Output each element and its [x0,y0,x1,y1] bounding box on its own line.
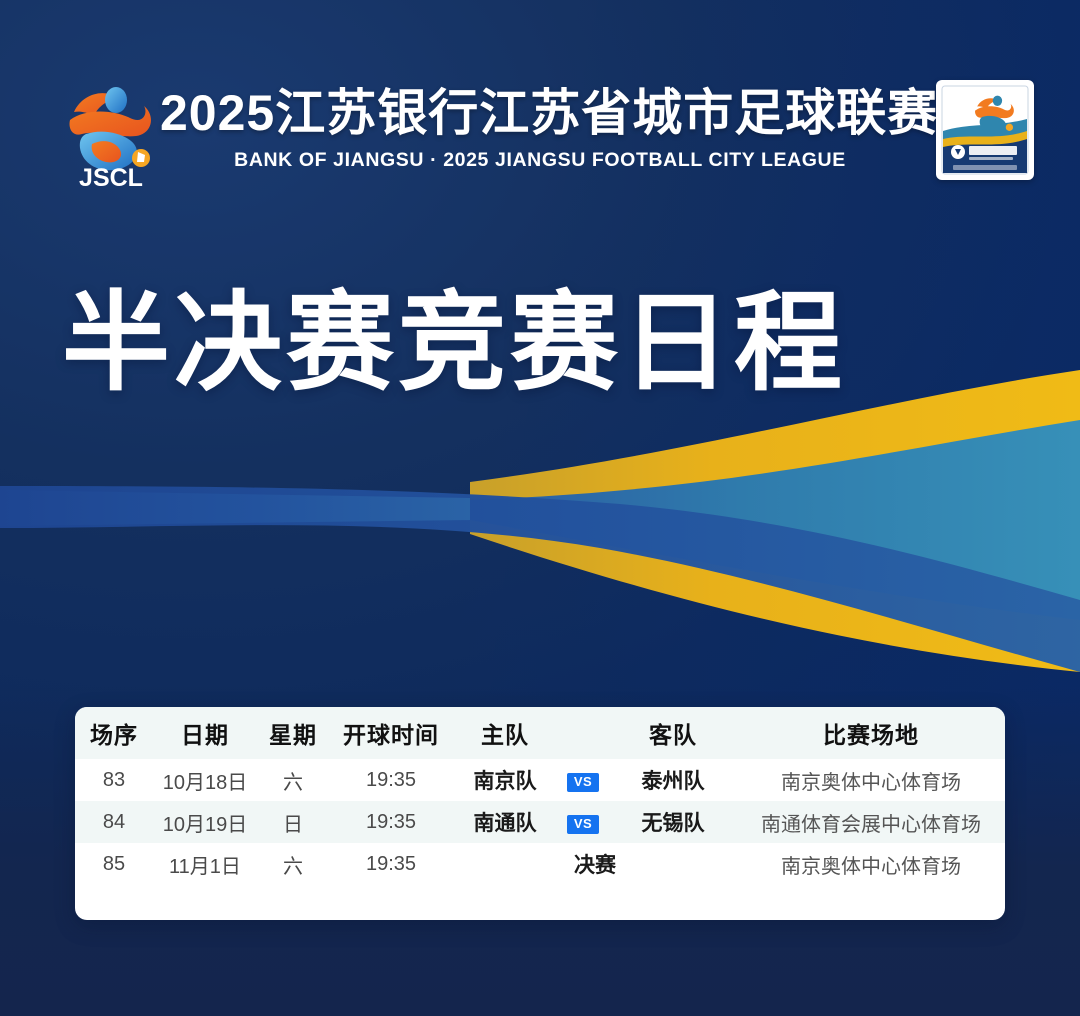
table-row: 83 10月18日 六 19:35 南京队 VS 泰州队 南京奥体中心体育场 [75,759,1005,801]
match-weekday: 六 [257,843,329,885]
match-kickoff: 19:35 [329,801,453,843]
schedule-card: 场序 日期 星期 开球时间 主队 客队 比赛场地 83 10月18日 六 19:… [75,707,1005,920]
logo-wordmark: JSCL [79,164,143,190]
page-title: 半决赛竞赛日程 [62,284,846,402]
col-header-num: 场序 [75,707,153,759]
col-header-home: 主队 [453,707,557,759]
match-number: 84 [75,801,153,843]
schedule-table: 场序 日期 星期 开球时间 主队 客队 比赛场地 83 10月18日 六 19:… [75,707,1005,885]
match-kickoff: 19:35 [329,759,453,801]
match-weekday: 日 [257,801,329,843]
table-row: 84 10月19日 日 19:35 南通队 VS 无锡队 南通体育会展中心体育场 [75,801,1005,843]
away-team: 无锡队 [609,801,737,843]
table-row: 85 11月1日 六 19:35 决赛 南京奥体中心体育场 [75,843,1005,885]
schedule-table-body: 83 10月18日 六 19:35 南京队 VS 泰州队 南京奥体中心体育场 8… [75,759,1005,885]
table-header-row: 场序 日期 星期 开球时间 主队 客队 比赛场地 [75,707,1005,759]
col-header-kickoff: 开球时间 [329,707,453,759]
match-number: 85 [75,843,153,885]
league-title-en: BANK OF JIANGSU · 2025 JIANGSU FOOTBALL … [160,148,920,172]
match-venue: 南京奥体中心体育场 [737,759,1005,801]
schedule-table-head: 场序 日期 星期 开球时间 主队 客队 比赛场地 [75,707,1005,759]
match-kickoff: 19:35 [329,843,453,885]
col-header-vs-spacer [557,707,609,759]
match-date: 10月18日 [153,759,257,801]
col-header-away: 客队 [609,707,737,759]
poster-header: JSCL 2025江苏银行江苏省城市足球联赛 BANK OF JIANGSU ·… [0,0,1080,210]
match-venue: 南通体育会展中心体育场 [737,801,1005,843]
home-team: 南京队 [453,759,557,801]
league-title-cn: 2025江苏银行江苏省城市足球联赛 [160,84,920,142]
match-date: 10月19日 [153,801,257,843]
col-header-venue: 比赛场地 [737,707,1005,759]
home-team: 南通队 [453,801,557,843]
vs-badge: VS [567,773,599,792]
bank-of-jiangsu-badge [936,80,1034,180]
match-weekday: 六 [257,759,329,801]
jscl-football-emblem-icon: JSCL [52,72,170,190]
match-venue: 南京奥体中心体育场 [737,843,1005,885]
match-date: 11月1日 [153,843,257,885]
match-number: 83 [75,759,153,801]
vs-cell: VS [557,759,609,801]
vs-badge: VS [567,815,599,834]
col-header-weekday: 星期 [257,707,329,759]
vs-cell: VS [557,801,609,843]
header-title-block: 2025江苏银行江苏省城市足球联赛 BANK OF JIANGSU · 2025… [160,84,920,172]
away-team: 泰州队 [609,759,737,801]
final-label: 决赛 [453,843,737,885]
poster-root: JSCL 2025江苏银行江苏省城市足球联赛 BANK OF JIANGSU ·… [0,0,1080,1016]
col-header-date: 日期 [153,707,257,759]
